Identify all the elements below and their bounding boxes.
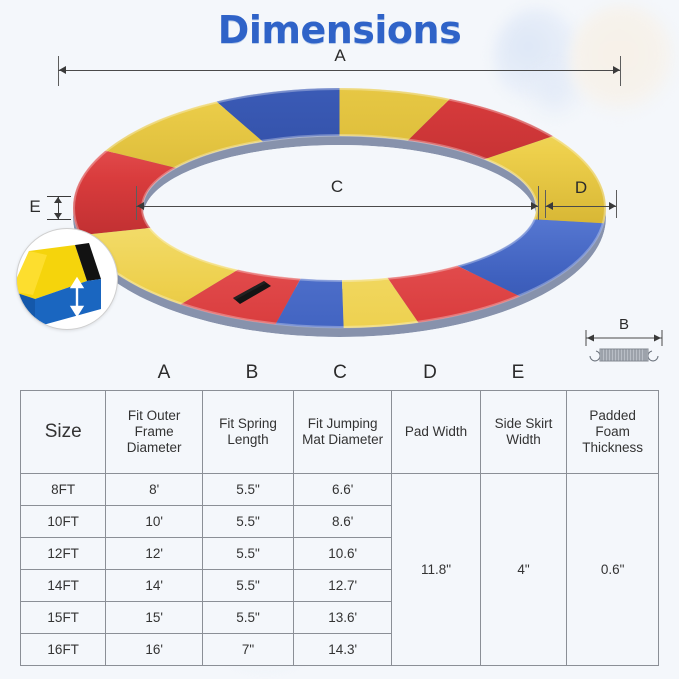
column-letter-e: E bbox=[478, 362, 558, 384]
dim-e-arrow-up bbox=[54, 197, 62, 203]
cell-spring: 5.5" bbox=[202, 474, 293, 506]
header-mat: Fit Jumping Mat Diameter bbox=[294, 391, 392, 474]
infographic-page: Dimensions bbox=[0, 0, 679, 679]
column-letter-a: A bbox=[124, 362, 204, 384]
column-letter-c: C bbox=[300, 362, 380, 384]
column-letter-b: B bbox=[212, 362, 292, 384]
cell-size: 10FT bbox=[21, 506, 106, 538]
detail-inset-circle bbox=[16, 228, 118, 330]
dim-c-arrow-left bbox=[137, 202, 144, 210]
header-skirt-width: Side Skirt Width bbox=[480, 391, 567, 474]
column-letter-d: D bbox=[390, 362, 470, 384]
dim-a-tick-right bbox=[620, 56, 621, 86]
dim-b-label-spring: B bbox=[619, 316, 629, 333]
cell-mat: 6.6' bbox=[294, 474, 392, 506]
dim-c-arrow-right bbox=[531, 202, 538, 210]
header-foam: Padded Foam Thickness bbox=[567, 391, 659, 474]
table-header-row: Size Fit Outer Frame Diameter Fit Spring… bbox=[21, 391, 659, 474]
cell-spring: 5.5" bbox=[202, 538, 293, 570]
dim-c-tick-right bbox=[538, 186, 539, 220]
cell-frame: 8' bbox=[106, 474, 203, 506]
cell-frame: 14' bbox=[106, 570, 203, 602]
cell-mat: 13.6' bbox=[294, 602, 392, 634]
cell-size: 8FT bbox=[21, 474, 106, 506]
dim-d-line bbox=[545, 206, 616, 207]
header-pad-width: Pad Width bbox=[392, 391, 480, 474]
dim-d-arrow-left bbox=[546, 202, 553, 210]
dim-a-arrow-left bbox=[59, 66, 66, 74]
cell-size: 14FT bbox=[21, 570, 106, 602]
spring-icon bbox=[590, 349, 658, 361]
dim-a-label: A bbox=[310, 46, 370, 66]
dim-e-arrow-down bbox=[54, 213, 62, 219]
table-column-letters: A B C D E bbox=[0, 362, 679, 386]
cell-mat: 10.6' bbox=[294, 538, 392, 570]
cell-frame: 15' bbox=[106, 602, 203, 634]
cell-foam: 0.6" bbox=[567, 474, 659, 666]
cell-frame: 10' bbox=[106, 506, 203, 538]
dim-a-line bbox=[58, 70, 620, 71]
cell-pad-width: 11.8" bbox=[392, 474, 480, 666]
header-size: Size bbox=[21, 391, 106, 474]
dim-e-tick-bottom bbox=[47, 219, 71, 220]
dim-e-label: E bbox=[24, 197, 46, 217]
cell-size: 15FT bbox=[21, 602, 106, 634]
table-row: 8FT 8' 5.5" 6.6' 11.8" 4" 0.6" bbox=[21, 474, 659, 506]
cell-mat: 12.7' bbox=[294, 570, 392, 602]
header-frame: Fit Outer Frame Diameter bbox=[106, 391, 203, 474]
dim-d-tick-right bbox=[616, 190, 617, 218]
cell-size: 16FT bbox=[21, 634, 106, 666]
dim-c-label: C bbox=[307, 177, 367, 197]
dim-d-label: D bbox=[552, 178, 610, 198]
cell-mat: 14.3' bbox=[294, 634, 392, 666]
cell-spring: 5.5" bbox=[202, 602, 293, 634]
dim-d-arrow-right bbox=[609, 202, 616, 210]
dim-c-line bbox=[136, 206, 538, 207]
header-spring: Fit Spring Length bbox=[202, 391, 293, 474]
cell-size: 12FT bbox=[21, 538, 106, 570]
specifications-table: Size Fit Outer Frame Diameter Fit Spring… bbox=[20, 390, 659, 666]
cell-spring: 7" bbox=[202, 634, 293, 666]
dim-a-arrow-right bbox=[613, 66, 620, 74]
cell-skirt-width: 4" bbox=[480, 474, 567, 666]
cell-frame: 16' bbox=[106, 634, 203, 666]
cell-mat: 8.6' bbox=[294, 506, 392, 538]
cell-frame: 12' bbox=[106, 538, 203, 570]
cell-spring: 5.5" bbox=[202, 506, 293, 538]
cell-spring: 5.5" bbox=[202, 570, 293, 602]
